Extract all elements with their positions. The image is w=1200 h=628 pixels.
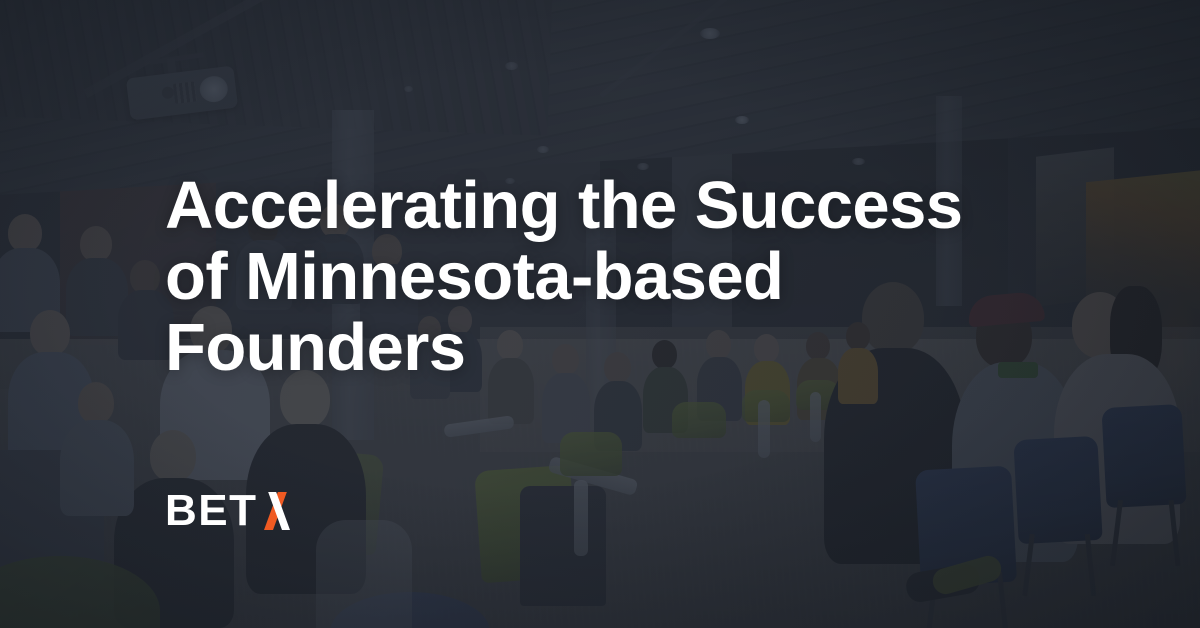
banner-content: Accelerating the Success of Minnesota-ba… <box>0 0 1200 628</box>
headline-line-1: Accelerating the Success <box>165 170 1095 241</box>
beta-logo-a-mark <box>259 492 293 530</box>
beta-logo[interactable]: BET <box>165 490 293 530</box>
beta-logo-wordmark: BET <box>165 492 258 530</box>
page-title: Accelerating the Success of Minnesota-ba… <box>165 170 1095 383</box>
banner-card: Accelerating the Success of Minnesota-ba… <box>0 0 1200 628</box>
headline-line-3: Founders <box>165 312 1095 383</box>
headline-line-2: of Minnesota-based <box>165 241 1095 312</box>
